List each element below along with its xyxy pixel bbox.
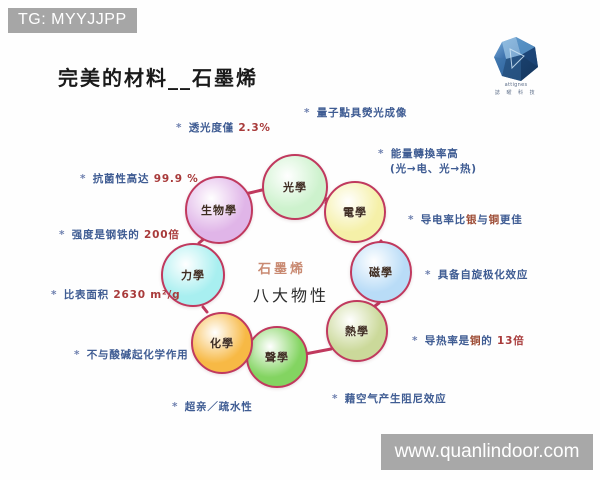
slide-canvas: TG: MYYJJPP 完美的材料__石墨烯 attignes 誌 曜 科 技 — [0, 0, 600, 480]
annotation-thermal-cond: * 导热率是铜的 13倍 — [412, 334, 525, 349]
annotation-spin-polar: * 具备自旋极化效应 — [425, 268, 528, 283]
node-electrical[interactable]: 電學 — [324, 181, 386, 243]
node-label: 熱學 — [345, 323, 369, 339]
annotation-strength: * 强度是钢铁的 200倍 — [59, 228, 180, 243]
annotation-surface-area: * 比表面积 2630 m²/g — [51, 288, 180, 303]
node-label: 光學 — [283, 179, 307, 195]
annotation-hydrophilic: * 超亲／疏水性 — [172, 400, 253, 415]
watermark-banner: www.quanlindoor.com — [381, 434, 593, 470]
center-subtitle-label: 八大物性 — [253, 282, 329, 306]
annotation-antibacterial: * 抗菌性高达 99.9 % — [80, 172, 199, 187]
annotation-transmittance: * 透光度僅 2.3% — [176, 121, 271, 136]
center-material-label: 石墨烯 — [258, 258, 306, 277]
annotation-conductivity: * 导电率比银与铜更佳 — [408, 213, 523, 228]
watermark-text: www.quanlindoor.com — [395, 441, 580, 463]
node-label: 生物學 — [201, 202, 237, 218]
node-acoustic[interactable]: 聲學 — [246, 326, 308, 388]
node-label: 化學 — [210, 335, 234, 351]
annotation-quantum-dot: * 量子點具熒光成像 — [304, 106, 407, 121]
node-optics[interactable]: 光學 — [262, 154, 328, 220]
annotation-acid-base: * 不与酸碱起化学作用 — [74, 348, 188, 363]
node-magnetic[interactable]: 磁學 — [350, 241, 412, 303]
annotation-energy-convert: * 能量轉換率高 — [378, 147, 459, 162]
annotation-energy-convert2: (光→电、光→热) — [390, 162, 477, 177]
annotation-damping: * 藉空气产生阻尼效应 — [332, 392, 446, 407]
node-label: 電學 — [343, 204, 367, 220]
node-label: 磁學 — [369, 264, 393, 280]
node-thermal[interactable]: 熱學 — [326, 300, 388, 362]
node-label: 力學 — [181, 267, 205, 283]
node-chemical[interactable]: 化學 — [191, 312, 253, 374]
node-label: 聲學 — [265, 349, 289, 365]
